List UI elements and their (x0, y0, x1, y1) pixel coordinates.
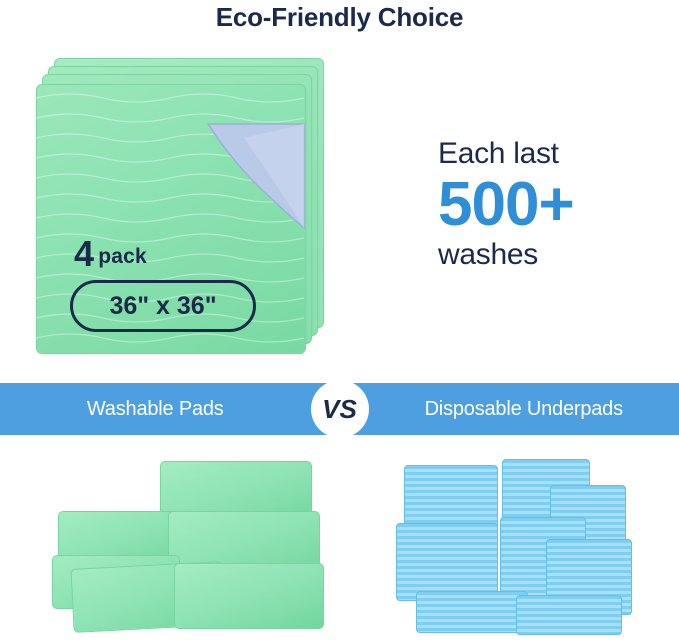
hero-panel: 4pack 36" x 36" Each last 500+ washes (0, 40, 679, 378)
pad-stack-image: 4pack 36" x 36" (36, 58, 346, 368)
comparison-band: Washable Pads VS Disposable Underpads (0, 383, 679, 435)
wash-claim: Each last 500+ washes (438, 138, 668, 270)
page-title: Eco-Friendly Choice (0, 2, 679, 33)
disposable-stack-8 (516, 595, 622, 635)
folded-green-washable-pads (48, 459, 338, 629)
disposable-stack-4 (396, 523, 498, 601)
pack-count: 4pack (74, 236, 147, 272)
wash-claim-line1: Each last (438, 138, 668, 170)
pack-count-label: pack (98, 245, 147, 268)
disposable-stack-7 (416, 591, 528, 633)
comparison-left-label: Washable Pads (0, 398, 311, 421)
comparison-images (0, 435, 679, 643)
comparison-right-label: Disposable Underpads (369, 398, 679, 421)
pack-count-number: 4 (74, 233, 94, 274)
wash-claim-line3: washes (438, 239, 668, 271)
stacked-blue-disposable-underpads (396, 459, 646, 631)
size-badge: 36" x 36" (70, 280, 256, 332)
folded-pad-6 (174, 563, 324, 629)
disposable-stack-1 (404, 465, 498, 529)
wash-claim-number: 500+ (438, 172, 668, 237)
vs-badge: VS (311, 380, 369, 438)
